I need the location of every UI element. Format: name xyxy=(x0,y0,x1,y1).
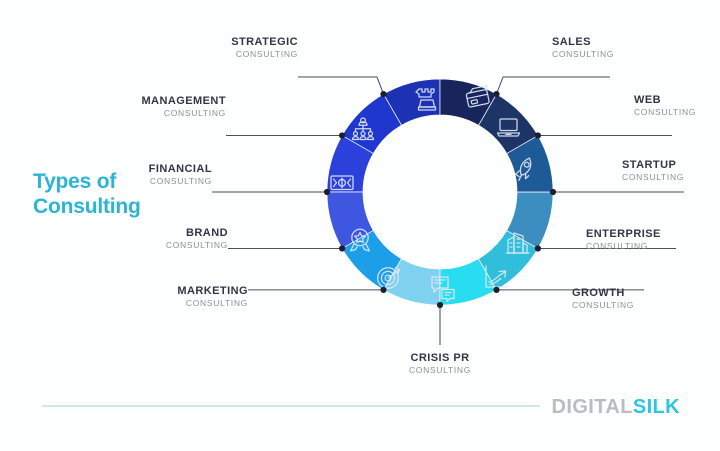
label-financial-name: FINANCIAL xyxy=(62,164,212,176)
label-financial-sub: CONSULTING xyxy=(62,177,212,187)
connector-management xyxy=(226,132,345,138)
label-strategic-sub: CONSULTING xyxy=(148,50,298,60)
connector-startup xyxy=(550,189,684,195)
label-startup[interactable]: STARTUP CONSULTING xyxy=(622,160,720,182)
label-brand-sub: CONSULTING xyxy=(78,241,228,251)
logo-digital-text: DIGITAL xyxy=(552,396,633,418)
label-crisis-pr-sub: CONSULTING xyxy=(365,366,515,376)
label-growth[interactable]: GROWTH CONSULTING xyxy=(572,288,720,310)
label-web[interactable]: WEB CONSULTING xyxy=(634,95,720,117)
connector-crisis-pr xyxy=(437,302,443,345)
label-brand-name: BRAND xyxy=(78,228,228,240)
label-marketing-sub: CONSULTING xyxy=(98,299,248,309)
label-financial[interactable]: FINANCIAL CONSULTING xyxy=(62,164,212,186)
label-enterprise-sub: CONSULTING xyxy=(586,242,720,252)
label-enterprise-name: ENTERPRISE xyxy=(586,229,720,241)
label-web-sub: CONSULTING xyxy=(634,108,720,118)
footer-divider xyxy=(42,405,540,407)
label-web-name: WEB xyxy=(634,95,720,107)
label-marketing-name: MARKETING xyxy=(98,286,248,298)
connector-sales xyxy=(493,77,610,97)
connector-financial xyxy=(212,189,330,195)
infographic-canvas: Types of Consulting .seg { stroke: #ffff… xyxy=(0,0,720,451)
donut-chart: .seg { stroke: #ffffff; stroke-width: 0.… xyxy=(0,0,720,451)
logo-silk-text: SILK xyxy=(633,396,680,418)
label-management-name: MANAGEMENT xyxy=(76,96,226,108)
label-crisis-pr-name: CRISIS PR xyxy=(365,353,515,365)
label-growth-name: GROWTH xyxy=(572,288,720,300)
label-enterprise[interactable]: ENTERPRISE CONSULTING xyxy=(586,229,720,251)
label-sales[interactable]: SALES CONSULTING xyxy=(552,37,702,59)
connector-strategic xyxy=(298,77,387,97)
label-sales-name: SALES xyxy=(552,37,702,49)
connector-marketing xyxy=(248,287,387,293)
label-brand[interactable]: BRAND CONSULTING xyxy=(78,228,228,250)
label-growth-sub: CONSULTING xyxy=(572,301,720,311)
connector-web xyxy=(535,132,672,138)
label-crisis-pr[interactable]: CRISIS PR CONSULTING xyxy=(365,353,515,375)
label-startup-name: STARTUP xyxy=(622,160,720,172)
label-strategic[interactable]: STRATEGIC CONSULTING xyxy=(148,37,298,59)
digital-silk-logo[interactable]: DIGITALSILK xyxy=(552,396,680,419)
label-startup-sub: CONSULTING xyxy=(622,173,720,183)
label-management[interactable]: MANAGEMENT CONSULTING xyxy=(76,96,226,118)
label-sales-sub: CONSULTING xyxy=(552,50,702,60)
label-strategic-name: STRATEGIC xyxy=(148,37,298,49)
label-management-sub: CONSULTING xyxy=(76,109,226,119)
label-marketing[interactable]: MARKETING CONSULTING xyxy=(98,286,248,308)
connector-brand xyxy=(228,245,345,251)
